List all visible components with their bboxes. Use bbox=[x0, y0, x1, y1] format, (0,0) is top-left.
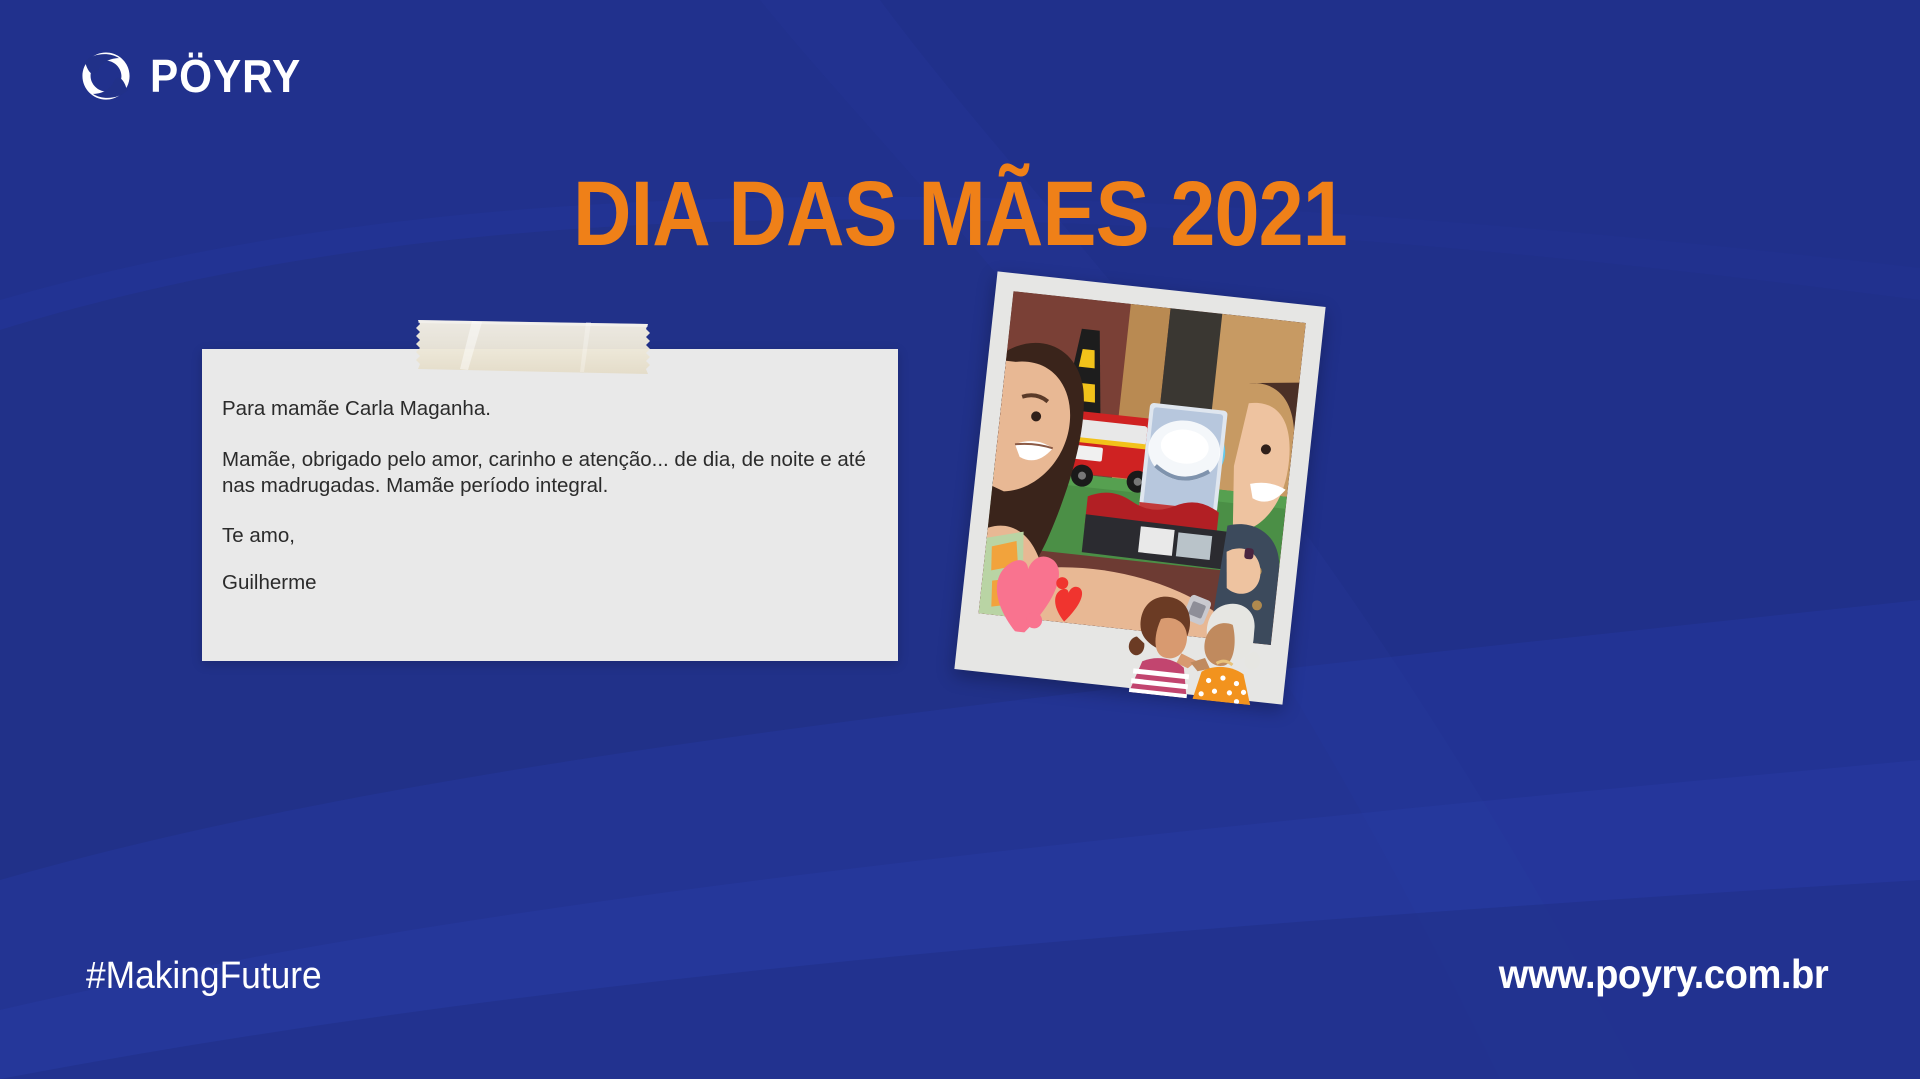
website-url[interactable]: www.poyry.com.br bbox=[1499, 954, 1828, 995]
polaroid-photo-frame[interactable] bbox=[954, 271, 1325, 704]
message-note: Para mamãe Carla Maganha. Mamãe, obrigad… bbox=[202, 349, 898, 661]
poyry-wordmark: PÖYRY bbox=[150, 53, 301, 99]
masking-tape-icon bbox=[410, 313, 656, 383]
page-title: DIA DAS MÃES 2021 bbox=[115, 168, 1805, 260]
poster-canvas: PÖYRY DIA DAS MÃES 2021 Para mamãe Carla… bbox=[0, 0, 1920, 1079]
poyry-logo[interactable]: PÖYRY bbox=[80, 50, 314, 102]
note-line-4: Guilherme bbox=[222, 573, 874, 594]
photo-image bbox=[979, 291, 1306, 645]
photo-illustration bbox=[979, 291, 1306, 645]
poyry-swirl-logo-icon bbox=[80, 50, 132, 102]
note-line-1: Para mamãe Carla Maganha. bbox=[222, 399, 874, 420]
hashtag-making-future: #MakingFuture bbox=[86, 957, 322, 995]
note-line-3: Te amo, bbox=[222, 526, 874, 547]
note-text-block: Para mamãe Carla Maganha. Mamãe, obrigad… bbox=[222, 399, 874, 621]
note-line-2: Mamãe, obrigado pelo amor, carinho e ate… bbox=[222, 447, 874, 499]
